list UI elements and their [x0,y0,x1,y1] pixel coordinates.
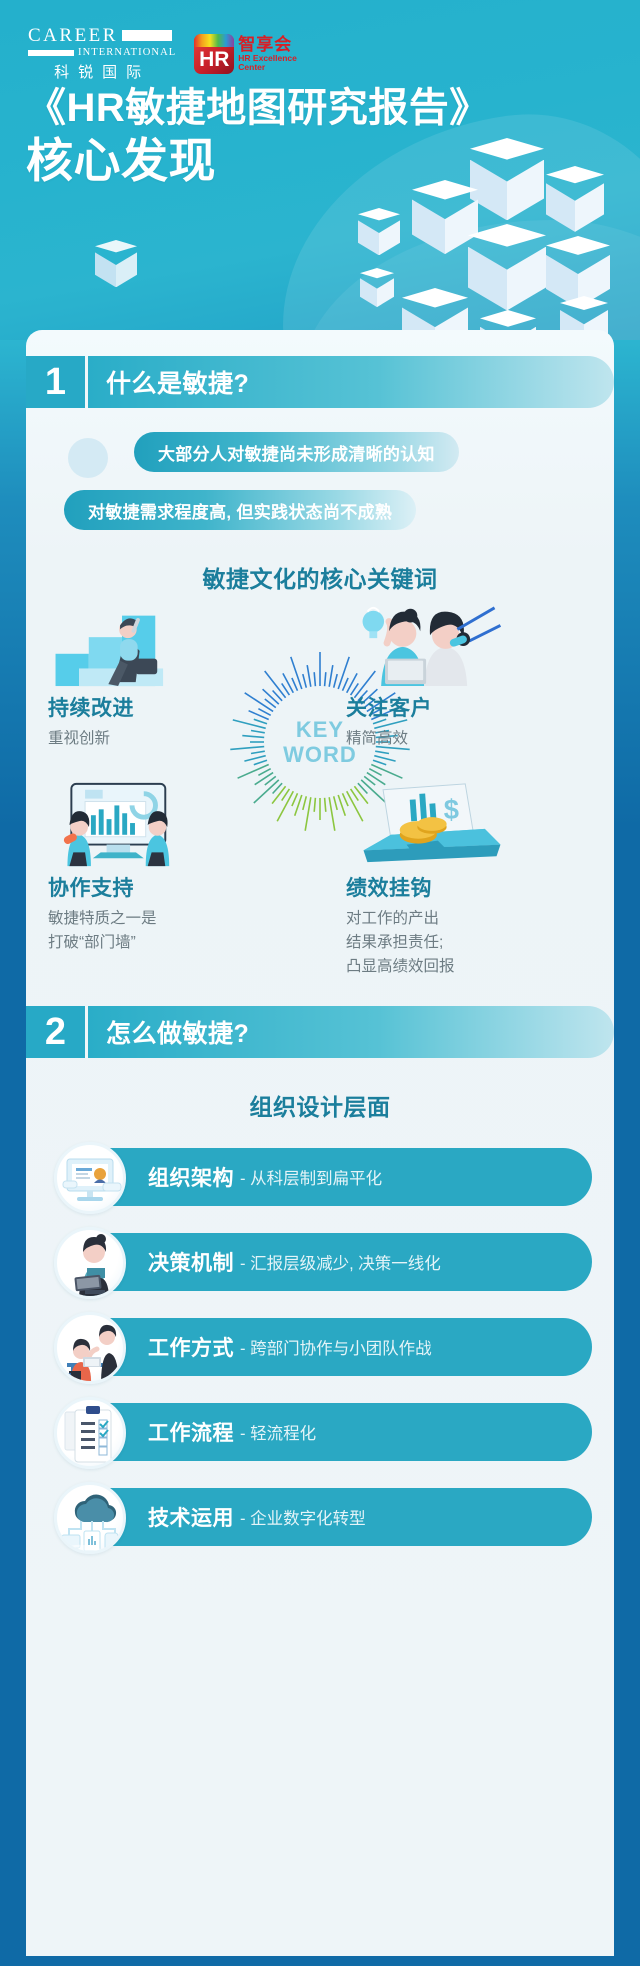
hr-chinese-name: 智享会 [238,36,297,54]
list-item-desc: - 轻流程化 [240,1420,316,1444]
statement-item: 大部分人对敏捷尚未形成清晰的认知 [134,432,459,472]
career-international-word: INTERNATIONAL [78,47,176,58]
section-title-bar-2: 怎么做敏捷? [88,1006,614,1058]
keyword-title: 持续改进 [48,692,258,722]
list-item-name: 组织架构 [148,1162,234,1192]
section-title-2: 怎么做敏捷? [88,1014,249,1050]
hr-en-line2: Center [238,63,297,72]
keyword-item: 关注客户 精简高效 [346,600,556,751]
org-design-title: 组织设计层面 [26,1088,614,1122]
svg-text:$: $ [444,794,459,825]
section-title-bar-1: 什么是敏捷? [88,356,614,408]
statement-dot-decoration [68,438,108,478]
hero-banner: CAREER INTERNATIONAL 科锐国际 HR 智享会 HR Exce… [0,0,640,372]
career-logo-bar-2 [28,50,74,56]
page-bottom-band [0,1956,640,1966]
keyword-desc: 重视创新 [48,727,258,751]
keyword-desc: 敏捷特质之一是 打破“部门墙” [48,907,258,955]
org-design-list: 组织架构 - 从科层制到扁平化 [26,1142,614,1554]
cloud-devices-icon [54,1482,126,1554]
section-header-2: 2 怎么做敏捷? [26,1006,614,1058]
career-chinese-name: 科锐国际 [28,61,176,82]
keyword-item: $ 绩效挂钩 对工作的产出 结果承担责任; 凸显高绩效回报 [346,780,556,979]
stairs-climb-icon [48,600,258,686]
checklist-icon [54,1397,126,1469]
logo-row: CAREER INTERNATIONAL 科锐国际 HR 智享会 HR Exce… [28,26,297,82]
list-item-name: 工作流程 [148,1417,234,1447]
page-title-line1: 《HR敏捷地图研究报告》 [26,86,490,130]
presentation-chart-icon [48,780,258,866]
list-item-desc: - 跨部门协作与小团队作战 [240,1335,432,1359]
hr-excellence-center-logo: HR 智享会 HR Excellence Center [194,34,297,74]
section-number-1: 1 [26,356,88,408]
section-title-1: 什么是敏捷? [88,364,249,400]
section-number-2: 2 [26,1006,88,1058]
list-item[interactable]: 工作流程 - 轻流程化 [26,1397,614,1469]
hr-badge-icon: HR [194,34,234,74]
page-title-line2: 核心发现 [26,135,490,188]
keyword-title: 绩效挂钩 [346,872,556,902]
keyword-diagram: KEY WORD 持续改进 [26,600,614,1000]
list-item[interactable]: 技术运用 - 企业数字化转型 [26,1482,614,1554]
desktop-profile-icon [54,1142,126,1214]
list-item-desc: - 汇报层级减少, 决策一线化 [240,1250,441,1274]
keyword-section-title: 敏捷文化的核心关键词 [26,560,614,594]
career-logo-bar [122,30,172,41]
hr-badge-label: HR [199,49,229,74]
right-edge-band [610,340,640,1966]
section-header-1: 1 什么是敏捷? [26,356,614,408]
keyword-desc: 对工作的产出 结果承担责任; 凸显高绩效回报 [346,907,556,979]
list-item-desc: - 从科层制到扁平化 [240,1165,382,1189]
keyword-item: 持续改进 重视创新 [48,600,258,751]
keyword-title: 关注客户 [346,692,556,722]
list-item[interactable]: 决策机制 - 汇报层级减少, 决策一线化 [26,1227,614,1299]
list-item-pill[interactable]: 技术运用 - 企业数字化转型 [68,1488,592,1546]
content-card: 1 什么是敏捷? 大部分人对敏捷尚未形成清晰的认知 对敏捷需求程度高, 但实践状… [26,330,614,1956]
keyword-item: 协作支持 敏捷特质之一是 打破“部门墙” [48,780,258,955]
list-item-pill[interactable]: 工作方式 - 跨部门协作与小团队作战 [68,1318,592,1376]
page-title: 《HR敏捷地图研究报告》 核心发现 [26,86,490,187]
list-item[interactable]: 工作方式 - 跨部门协作与小团队作战 [26,1312,614,1384]
keyword-title: 协作支持 [48,872,258,902]
list-item-pill[interactable]: 工作流程 - 轻流程化 [68,1403,592,1461]
rainbow-stripe [194,34,234,47]
list-item-pill[interactable]: 决策机制 - 汇报层级减少, 决策一线化 [68,1233,592,1291]
list-item-name: 工作方式 [148,1332,234,1362]
career-word: CAREER [28,26,118,45]
career-international-logo: CAREER INTERNATIONAL 科锐国际 [28,26,176,82]
list-item-name: 决策机制 [148,1247,234,1277]
list-item-pill[interactable]: 组织架构 - 从科层制到扁平化 [68,1148,592,1206]
floating-cube-icon [95,240,137,286]
statement-group: 大部分人对敏捷尚未形成清晰的认知 对敏捷需求程度高, 但实践状态尚不成熟 [26,432,614,538]
list-item[interactable]: 组织架构 - 从科层制到扁平化 [26,1142,614,1214]
list-item-name: 技术运用 [148,1502,234,1532]
two-people-idea-icon [346,600,556,686]
statement-item: 对敏捷需求程度高, 但实践状态尚不成熟 [64,490,416,530]
keyword-center-line1: KEY [296,717,344,742]
keyword-desc: 精简高效 [346,727,556,751]
laptop-coins-icon: $ [346,780,556,866]
team-meeting-icon [54,1312,126,1384]
person-laptop-icon [54,1227,126,1299]
list-item-desc: - 企业数字化转型 [240,1505,366,1529]
